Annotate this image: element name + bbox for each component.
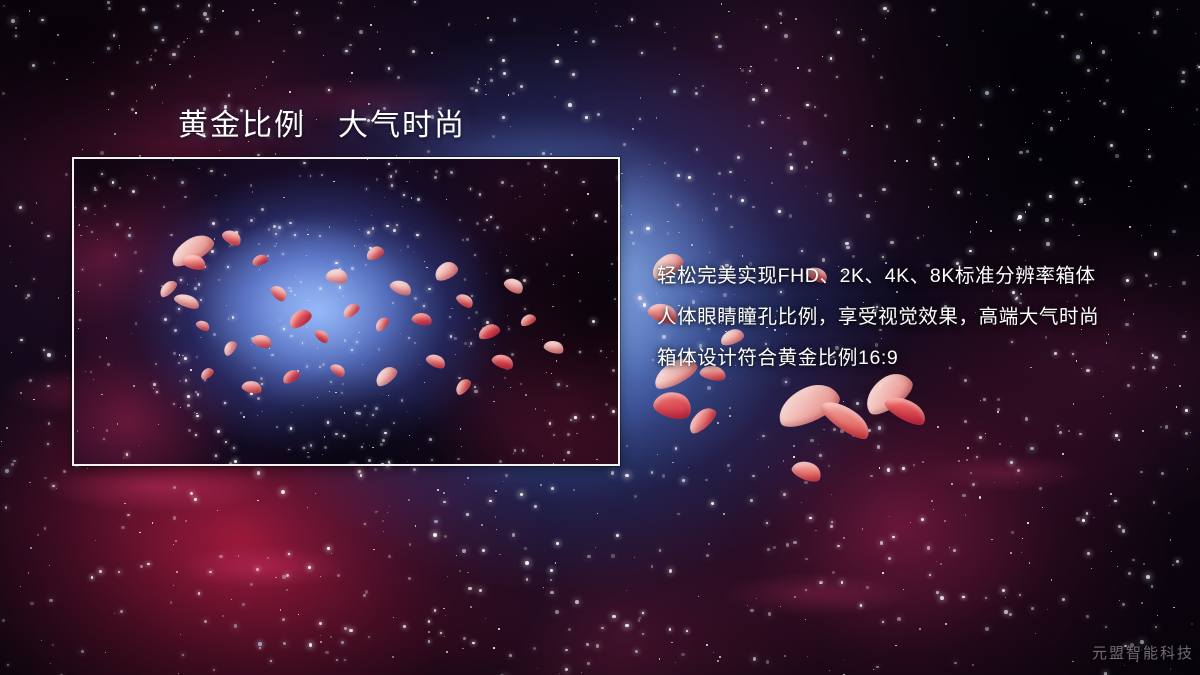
body-text-block: 轻松完美实现FHD、2K、4K、8K标准分辨率箱体 人体眼睛瞳孔比例，享受视觉效…: [657, 256, 1167, 379]
body-line-2: 人体眼睛瞳孔比例，享受视觉效果，高端大气时尚: [657, 297, 1167, 338]
framed-image-panel: [72, 157, 620, 466]
body-line-1: 轻松完美实现FHD、2K、4K、8K标准分辨率箱体: [657, 256, 1167, 297]
watermark: 元盟智能科技: [1092, 642, 1194, 663]
slide-canvas: 黄金比例 大气时尚 轻松完美实现FHD、2K、4K、8K标准分辨率箱体 人体眼睛…: [0, 0, 1200, 675]
body-line-3: 箱体设计符合黄金比例16:9: [657, 338, 1167, 379]
page-title: 黄金比例 大气时尚: [178, 100, 466, 144]
